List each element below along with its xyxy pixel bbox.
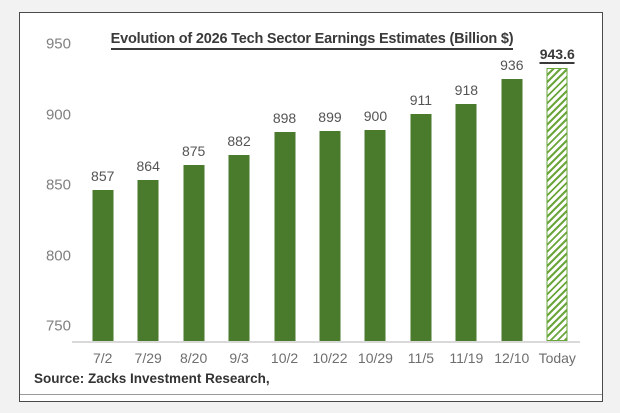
chart-title-text: Evolution of 2026 Tech Sector Earnings E… — [111, 31, 514, 50]
bar[interactable] — [92, 190, 113, 341]
bar-group: 91811/19 — [444, 61, 489, 343]
figure-outer-frame: Evolution of 2026 Tech Sector Earnings E… — [0, 0, 620, 413]
chart-card: Evolution of 2026 Tech Sector Earnings E… — [19, 12, 603, 402]
x-axis-tick-label: 8/20 — [180, 350, 207, 366]
y-axis-tick-label: 800 — [46, 247, 71, 264]
x-axis-tick-label: 11/5 — [408, 350, 434, 366]
bar-value-label: 918 — [455, 82, 478, 98]
bar-group: 8829/3 — [216, 61, 261, 343]
bar-value-label: 882 — [227, 133, 250, 149]
x-axis-tick-label: 7/2 — [93, 350, 112, 366]
bar-group: 93612/10 — [489, 61, 534, 343]
bar-value-label: 943.6 — [540, 46, 575, 62]
y-axis-tick-label: 900 — [46, 106, 71, 123]
x-axis-tick-label: 10/2 — [271, 350, 298, 366]
bar-group: 8577/2 — [80, 61, 125, 343]
x-axis-tick-label: 11/19 — [449, 350, 483, 366]
bar[interactable] — [410, 114, 431, 341]
x-axis-tick-label: 9/3 — [229, 350, 248, 366]
bar-value-label: 936 — [500, 57, 523, 73]
bar-group: 943.6Today — [535, 61, 580, 343]
bar[interactable] — [183, 165, 204, 341]
bar-group: 89810/2 — [262, 61, 307, 343]
bar-value-label: 899 — [318, 109, 341, 125]
source-note: Source: Zacks Investment Research, — [34, 371, 270, 386]
bar-value-label: 898 — [273, 110, 296, 126]
bar[interactable] — [365, 130, 386, 342]
x-axis-tick-label: 10/22 — [312, 350, 347, 366]
bar-value-label: 857 — [91, 168, 114, 184]
chart-title: Evolution of 2026 Tech Sector Earnings E… — [20, 31, 603, 47]
x-axis-tick-label: 10/29 — [358, 350, 393, 366]
x-axis-tick-label: 12/10 — [494, 350, 529, 366]
y-axis-tick-label: 950 — [46, 36, 71, 53]
bar-group: 89910/22 — [307, 61, 352, 343]
bar-value-label: 911 — [410, 92, 432, 108]
bar[interactable] — [319, 131, 340, 341]
source-divider-rule — [20, 394, 603, 395]
x-axis-tick-label: 7/29 — [135, 350, 162, 366]
y-axis-tick-label: 850 — [46, 177, 71, 194]
bar[interactable] — [456, 104, 477, 341]
plot-area: 750800850900950 8577/28647/298758/208829… — [80, 61, 580, 343]
bar-value-label: 864 — [136, 158, 159, 174]
bar[interactable] — [138, 180, 159, 341]
bar-projected[interactable] — [547, 68, 568, 341]
bar-group: 8647/29 — [125, 61, 170, 343]
bar[interactable] — [229, 155, 250, 341]
bar[interactable] — [501, 79, 522, 341]
bar-group: 8758/20 — [171, 61, 216, 343]
bar-value-label: 900 — [364, 108, 387, 124]
bar-group: 90010/29 — [353, 61, 398, 343]
bar-value-label: 875 — [182, 143, 205, 159]
bar-value-label-text: 943.6 — [540, 46, 575, 64]
bar-group: 91111/5 — [398, 61, 443, 343]
y-axis-tick-label: 750 — [46, 318, 71, 335]
x-axis-tick-label: Today — [539, 350, 576, 366]
bar[interactable] — [274, 132, 295, 341]
